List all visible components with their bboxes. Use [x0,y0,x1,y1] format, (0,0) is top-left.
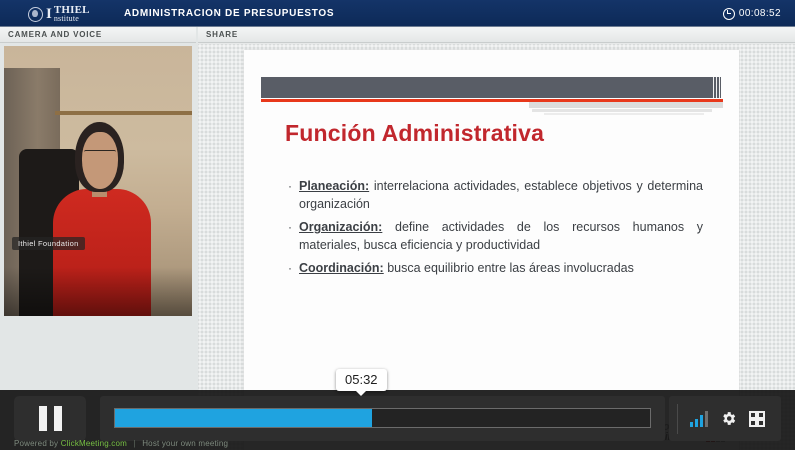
slide-gray-line-1 [529,102,723,108]
brand-line2: nstitute [54,15,90,23]
fullscreen-icon[interactable] [749,411,765,427]
pause-icon-bar-right [54,406,62,431]
share-panel-header: SHARE [198,27,795,43]
bullet-marker: · [288,177,299,213]
volume-slider[interactable] [690,411,708,427]
bullet-content: Planeación: interrelaciona actividades, … [299,177,703,213]
list-item: · Coordinación: busca equilibrio entre l… [288,259,703,277]
list-item: · Organización: define actividades de lo… [288,218,703,254]
camera-panel-header: CAMERA AND VOICE [0,27,196,43]
share-panel: SHARE Función Administrativa · Planeació… [198,27,795,450]
bullet-term: Planeación: [299,179,369,193]
control-divider [677,404,678,434]
slide-gray-line-3 [544,113,704,115]
progress-bar-container[interactable]: 05:32 [100,396,665,441]
pause-icon-bar-left [39,406,47,431]
webcam-wall-trim [55,111,192,115]
institute-emblem-icon [28,7,43,22]
clickmeeting-webinar-player: I THIEL nstitute ADMINISTRACION DE PRESU… [0,0,795,450]
seek-time-tooltip: 05:32 [336,369,387,391]
bullet-marker: · [288,218,299,254]
webcam-video[interactable]: Ithiel Foundation [4,46,192,316]
player-right-controls [669,396,781,441]
slide-gray-line-2 [532,109,712,112]
slide-header-bar-tail [711,77,721,98]
credit-brand-link[interactable]: ClickMeeting.com [61,439,127,448]
progress-track[interactable] [114,408,651,428]
slide-header-bar [261,77,721,98]
credit-suffix[interactable]: Host your own meeting [142,439,228,448]
session-timer-value: 00:08:52 [739,8,781,19]
slide-bullet-list: · Planeación: interrelaciona actividades… [288,177,703,282]
participant-name-badge: Ithiel Foundation [12,237,85,250]
bullet-content: Organización: define actividades de los … [299,218,703,254]
credit-prefix: Powered by [14,439,58,448]
bullet-term: Coordinación: [299,261,384,275]
slide-title: Función Administrativa [285,120,544,147]
gear-icon[interactable] [720,410,737,427]
brand-text: THIEL nstitute [54,5,90,23]
list-item: · Planeación: interrelaciona actividades… [288,177,703,213]
webcam-vignette [4,267,192,316]
credit-separator: | [133,439,135,448]
player-controls: 05:32 Powered by [0,390,795,450]
bullet-marker: · [288,259,299,277]
bullet-content: Coordinación: busca equilibrio entre las… [299,259,703,277]
camera-and-voice-panel: CAMERA AND VOICE Ithiel Foundation [0,27,196,450]
bullet-text: busca equilibrio entre las áreas involuc… [384,261,634,275]
fullscreen-corner-br [755,417,765,427]
ithiel-institute-logo: I THIEL nstitute [28,3,108,25]
progress-fill [115,409,372,427]
webinar-title: ADMINISTRACION DE PRESUPUESTOS [124,0,334,27]
webcam-presenter-glasses [84,150,116,162]
powered-by-credit: Powered by ClickMeeting.com | Host your … [14,439,228,448]
session-timer: 00:08:52 [723,0,781,27]
brand-initial: I [46,6,52,23]
clock-icon [723,8,735,20]
bullet-term: Organización: [299,220,382,234]
top-bar: I THIEL nstitute ADMINISTRACION DE PRESU… [0,0,795,27]
pause-button[interactable] [14,396,86,441]
